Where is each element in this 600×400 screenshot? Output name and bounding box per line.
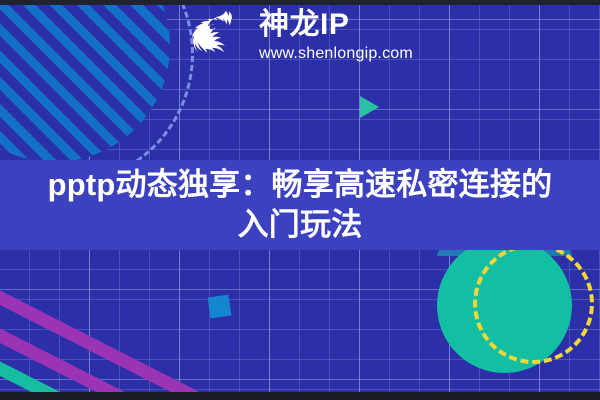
bottom-edge-strip: [0, 392, 600, 400]
brand-logo: 神龙IP www.shenlongip.com: [185, 4, 413, 68]
triangle-teal-icon: [360, 96, 379, 118]
headline-line-2: 入门玩法: [238, 205, 363, 245]
dragon-head-mascot-icon: [185, 4, 249, 68]
logo-text-block: 神龙IP www.shenlongip.com: [259, 10, 413, 62]
headline: pptp动态独享：畅享高速私密连接的 入门玩法: [0, 160, 600, 250]
promo-banner: 神龙IP www.shenlongip.com pptp动态独享：畅享高速私密连…: [0, 0, 600, 400]
brand-website-url: www.shenlongip.com: [259, 46, 413, 62]
top-edge-strip: [0, 0, 600, 5]
brand-name: 神龙IP: [259, 10, 413, 40]
square-blue-decoration: [208, 295, 232, 319]
headline-line-1: pptp动态独享：畅享高速私密连接的: [48, 165, 553, 205]
dashed-circle-yellow-decoration: [473, 243, 594, 364]
